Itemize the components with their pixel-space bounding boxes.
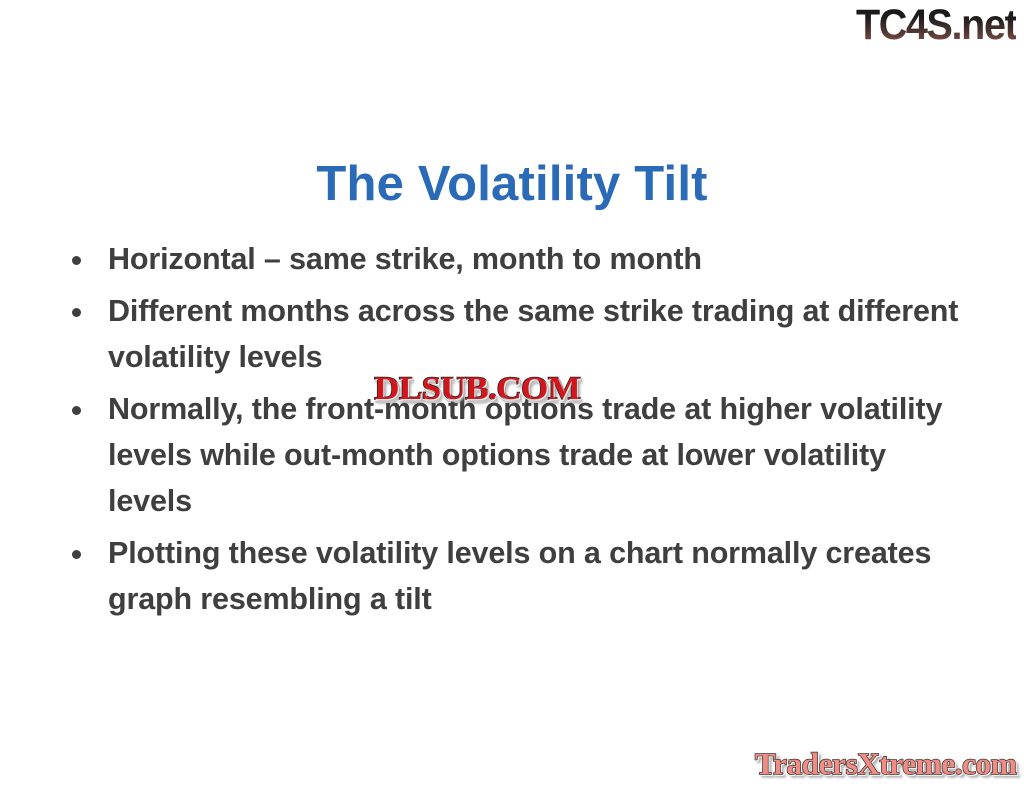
tradersxtreme-logo: TradersXtreme.com (755, 747, 1016, 781)
dlsub-watermark: DLSUB.COM (370, 372, 585, 409)
slide-canvas: TC4S.net The Volatility Tilt Horizontal … (0, 0, 1024, 791)
dlsub-watermark-label: DLSUB.COM (374, 371, 580, 407)
page-title: The Volatility Tilt (0, 155, 1024, 213)
tc4s-logo: TC4S.net (856, 2, 1016, 48)
list-item: Plotting these volatility levels on a ch… (62, 530, 977, 622)
list-item: Different months across the same strike … (62, 288, 977, 380)
list-item: Horizontal – same strike, month to month (62, 236, 977, 282)
bullet-list: Horizontal – same strike, month to month… (62, 236, 977, 628)
